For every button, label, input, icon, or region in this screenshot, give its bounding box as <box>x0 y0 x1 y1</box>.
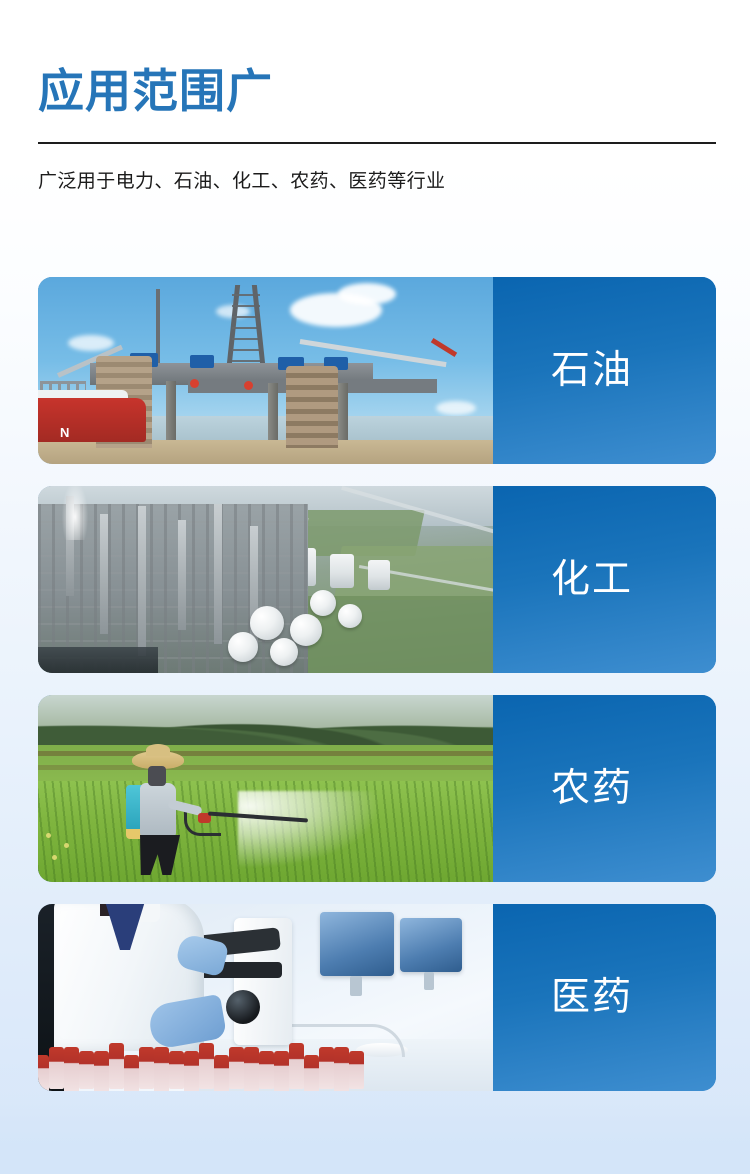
test-tube <box>259 1051 274 1089</box>
test-tube <box>319 1047 334 1089</box>
card-photo-oil: N <box>38 277 493 464</box>
test-tube <box>229 1047 244 1089</box>
card-label-panel-pesticide: 农药 <box>493 695 716 882</box>
card-photo-pharma <box>38 904 493 1091</box>
test-tube <box>79 1051 94 1089</box>
test-tube <box>139 1047 154 1089</box>
ship-hull-marking: N <box>60 425 69 440</box>
test-tube-rack <box>38 1045 364 1091</box>
industry-label-oil: 石油 <box>551 351 633 390</box>
application-scope-page: 应用范围广 广泛用于电力、石油、化工、农药、医药等行业 <box>0 0 750 1174</box>
offshore-oil-rig-illustration: N <box>38 277 493 464</box>
test-tube <box>214 1055 229 1091</box>
pharmaceutical-lab-illustration <box>38 904 493 1091</box>
industry-card-oil[interactable]: N 石油 <box>38 277 716 464</box>
test-tube <box>274 1051 289 1091</box>
industry-card-chemical[interactable]: 化工 <box>38 486 716 673</box>
industry-card-list: N 石油 <box>38 277 716 1091</box>
petrochemical-plant-illustration <box>38 486 493 673</box>
test-tube <box>289 1043 304 1089</box>
test-tube <box>94 1051 109 1091</box>
card-photo-pesticide <box>38 695 493 882</box>
test-tube <box>124 1055 139 1091</box>
industry-label-pharma: 医药 <box>551 978 633 1017</box>
page-title: 应用范围广 <box>38 0 716 118</box>
industry-card-pharma[interactable]: 医药 <box>38 904 716 1091</box>
test-tube <box>109 1043 124 1089</box>
test-tube <box>169 1051 184 1089</box>
card-label-panel-oil: 石油 <box>493 277 716 464</box>
bottom-gradient-overlay <box>0 1102 750 1174</box>
test-tube <box>184 1051 199 1091</box>
pesticide-spraying-illustration <box>38 695 493 882</box>
test-tube <box>349 1051 364 1089</box>
industry-label-pesticide: 农药 <box>551 769 633 808</box>
test-tube <box>199 1043 214 1089</box>
card-label-panel-chemical: 化工 <box>493 486 716 673</box>
industry-card-pesticide[interactable]: 农药 <box>38 695 716 882</box>
test-tube <box>49 1047 64 1089</box>
test-tube <box>244 1047 259 1091</box>
page-header: 应用范围广 广泛用于电力、石油、化工、农药、医药等行业 <box>38 0 716 195</box>
card-photo-chemical <box>38 486 493 673</box>
test-tube <box>64 1047 79 1091</box>
test-tube <box>334 1047 349 1091</box>
page-subtitle: 广泛用于电力、石油、化工、农药、医药等行业 <box>38 144 716 196</box>
industry-label-chemical: 化工 <box>551 560 633 599</box>
test-tube <box>154 1047 169 1091</box>
test-tube <box>38 1055 49 1091</box>
card-label-panel-pharma: 医药 <box>493 904 716 1091</box>
test-tube <box>304 1055 319 1091</box>
